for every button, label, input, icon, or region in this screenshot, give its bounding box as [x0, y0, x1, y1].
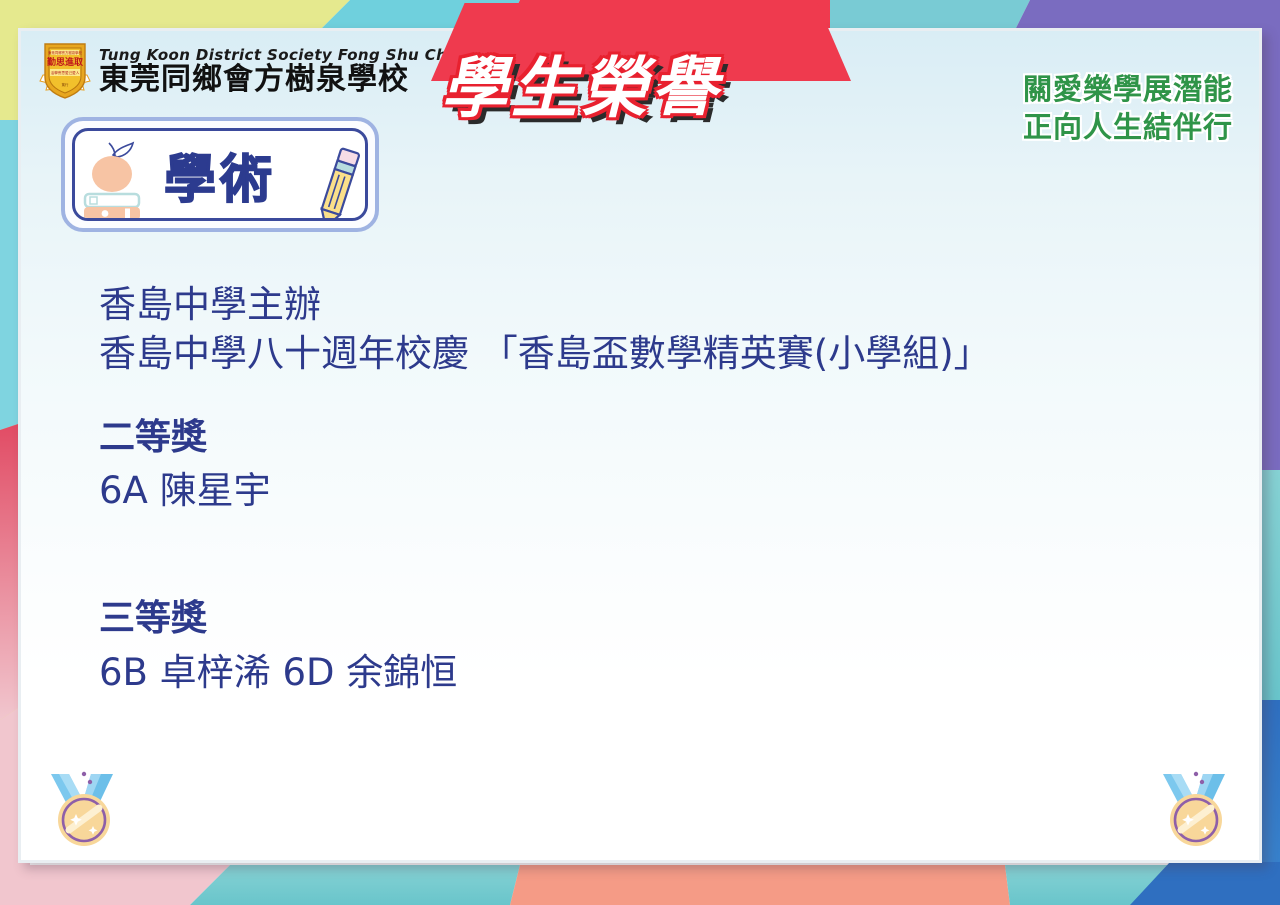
pencil-icon [315, 143, 361, 221]
award-medal-icon [1155, 768, 1237, 848]
organiser-line: 香島中學主辦 [99, 281, 1199, 330]
svg-text:東莞同鄉會方樹泉學校: 東莞同鄉會方樹泉學校 [48, 50, 83, 55]
award-recipients-0: 6A 陳星宇 [99, 467, 1199, 516]
svg-text:勤思進取: 勤思進取 [47, 56, 84, 68]
category-badge-academic: 學術 [61, 117, 379, 232]
school-motto: 關愛樂學展潛能 正向人生結伴行 [1023, 71, 1233, 146]
award-recipients-1: 6B 卓梓浠 6D 余錦恒 [99, 649, 1199, 698]
section-spacer [99, 516, 1199, 560]
school-crest-shield-icon: 東莞同鄉會方樹泉學校 勤思進取 活學會思愛己愛人 篤行 [39, 41, 91, 101]
svg-text:篤行: 篤行 [62, 82, 69, 87]
award-medal-icon [43, 768, 125, 848]
honour-card: 東莞同鄉會方樹泉學校 勤思進取 活學會思愛己愛人 篤行 Tung Koon Di… [18, 28, 1262, 863]
motto-line-2: 正向人生結伴行 [1023, 109, 1233, 147]
band-bottom-teal [190, 865, 520, 905]
award-title-1: 三等獎 [99, 596, 1199, 643]
motto-line-1: 關愛樂學展潛能 [1023, 71, 1233, 109]
svg-text:活學會思愛己愛人: 活學會思愛己愛人 [51, 70, 80, 75]
event-line: 香島中學八十週年校慶 「香島盃數學精英賽(小學組)」 [99, 330, 1199, 379]
band-bottom-pink [0, 865, 230, 905]
band-bottom-salmon [510, 865, 1010, 905]
page-title: 學生榮譽 [441, 35, 721, 131]
award-title-0: 二等獎 [99, 415, 1199, 462]
category-badge-inner: 學術 [72, 128, 368, 221]
award-content: 香島中學主辦 香島中學八十週年校慶 「香島盃數學精英賽(小學組)」 二等獎 6A… [99, 281, 1199, 698]
